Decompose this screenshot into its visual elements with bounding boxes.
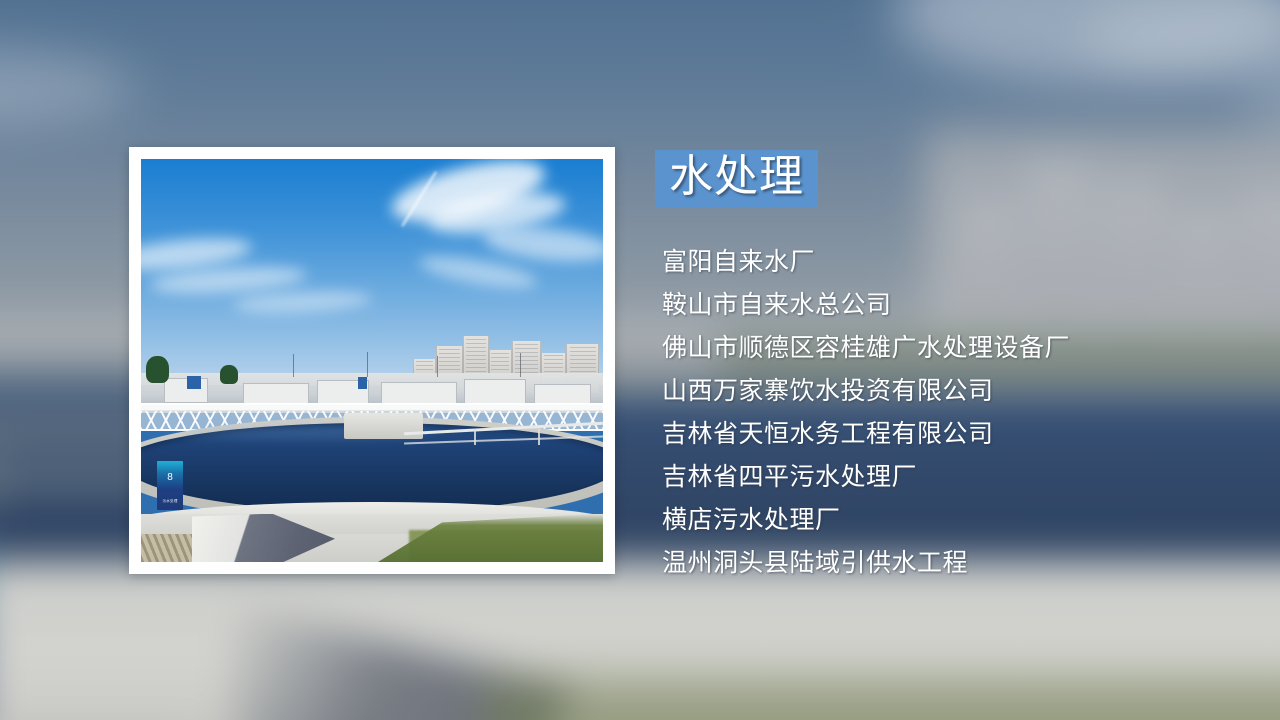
photo-pole — [367, 352, 368, 376]
list-item: 温州洞头县陆域引供水工程 — [662, 542, 1255, 585]
photo-building — [243, 383, 310, 404]
list-item: 山西万家寨饮水投资有限公司 — [662, 370, 1255, 413]
photo-blue-structure — [187, 376, 201, 390]
photo-sign-subtext: 污水处理 — [157, 499, 183, 504]
list-item: 吉林省天恒水务工程有限公司 — [662, 413, 1255, 456]
photo-pole — [437, 356, 438, 377]
photo-building — [381, 382, 457, 403]
photo-card: 8 污水处理 — [129, 147, 615, 574]
list-item: 鞍山市自来水总公司 — [662, 284, 1255, 327]
slide-root: 8 污水处理 水处理 富阳自来水厂 鞍山市自来水总公司 佛山市顺德区容桂雄广水处… — [0, 0, 1280, 720]
list-item: 横店污水处理厂 — [662, 499, 1255, 542]
photo-tree — [220, 365, 238, 384]
photo-blue-sign: 8 污水处理 — [157, 461, 183, 509]
photo-blue-structure — [358, 377, 367, 389]
page-title: 水处理 — [669, 153, 804, 201]
photo-building — [464, 379, 526, 404]
photo-building — [164, 378, 208, 403]
list-item: 吉林省四平污水处理厂 — [662, 456, 1255, 499]
photo-pole — [520, 353, 521, 376]
photo-image: 8 污水处理 — [141, 159, 603, 562]
title-badge: 水处理 — [655, 150, 818, 208]
photo-center-pier — [344, 413, 423, 439]
photo-sign-number: 8 — [157, 473, 183, 483]
photo-building — [534, 384, 591, 404]
company-list: 富阳自来水厂 鞍山市自来水总公司 佛山市顺德区容桂雄广水处理设备厂 山西万家寨饮… — [662, 241, 1255, 585]
photo-bridge-leg — [538, 429, 540, 445]
photo-tree — [146, 356, 169, 383]
list-item: 富阳自来水厂 — [662, 241, 1255, 284]
list-item: 佛山市顺德区容桂雄广水处理设备厂 — [662, 327, 1255, 370]
photo-pole — [293, 354, 294, 377]
photo-bridge-leg — [474, 429, 476, 445]
content-column: 水处理 富阳自来水厂 鞍山市自来水总公司 佛山市顺德区容桂雄广水处理设备厂 山西… — [655, 150, 1255, 585]
